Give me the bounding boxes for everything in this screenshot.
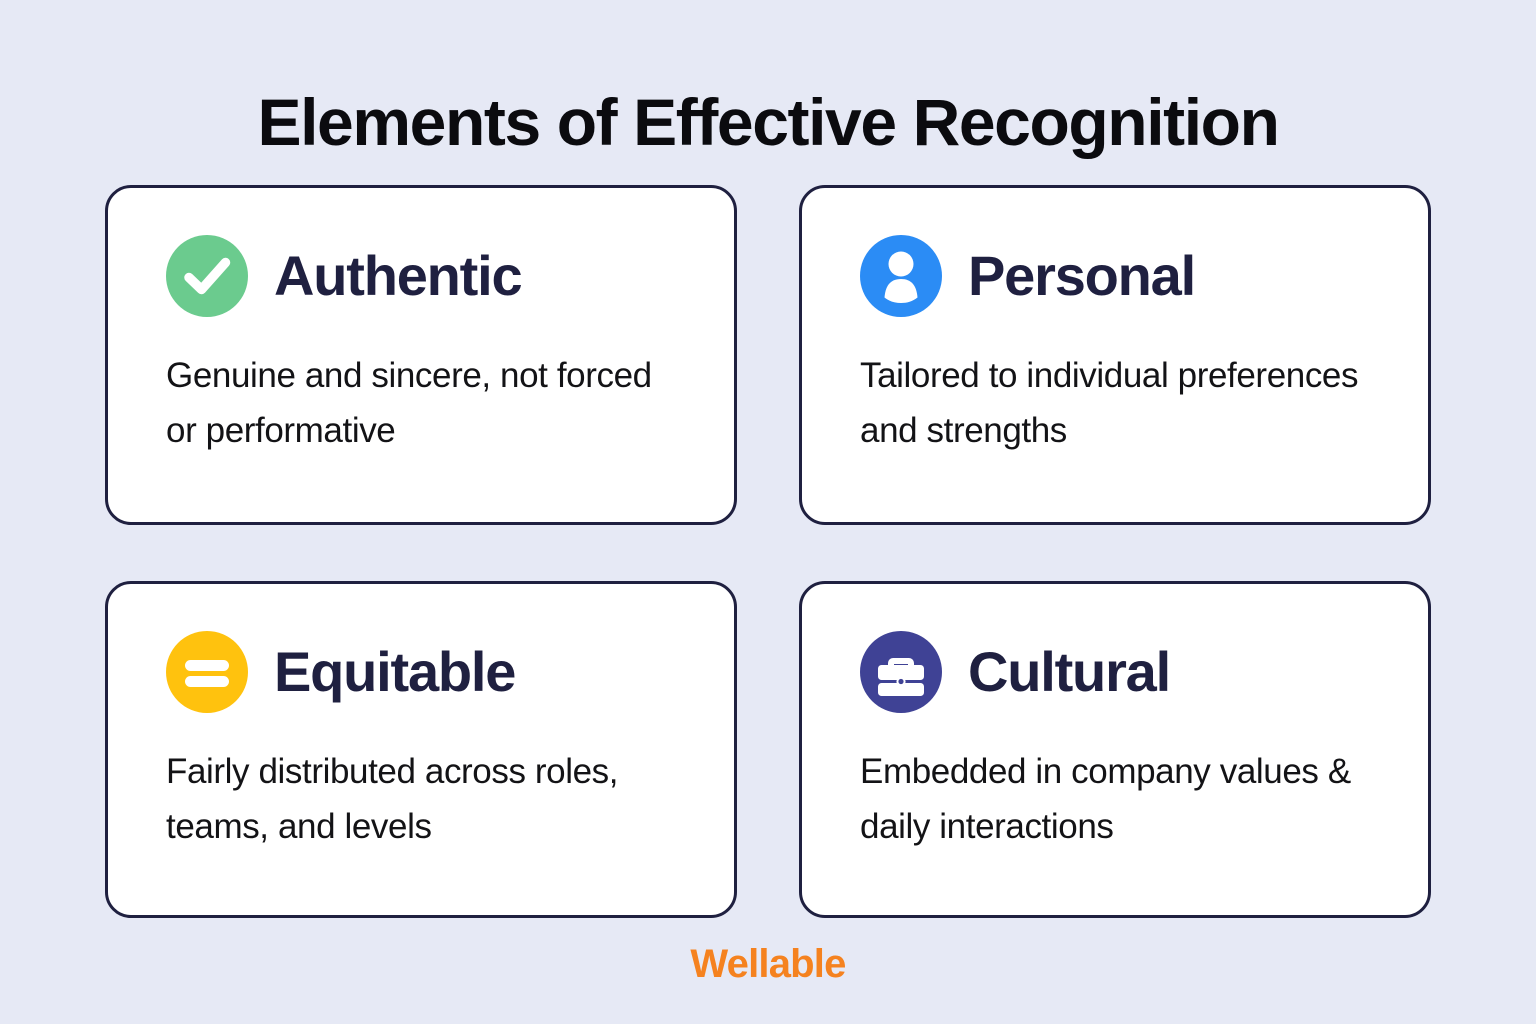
- infographic-canvas: Elements of Effective Recognition Authen…: [0, 0, 1536, 1024]
- card-description: Tailored to individual preferences and s…: [860, 348, 1380, 458]
- card-personal: Personal Tailored to individual preferen…: [799, 185, 1431, 525]
- card-title: Equitable: [274, 642, 515, 702]
- card-header: Authentic: [166, 230, 688, 322]
- equals-icon: [166, 631, 248, 713]
- page-title: Elements of Effective Recognition: [0, 82, 1536, 162]
- card-equitable: Equitable Fairly distributed across role…: [105, 581, 737, 918]
- card-title: Personal: [968, 246, 1195, 306]
- card-description: Genuine and sincere, not forced or perfo…: [166, 348, 686, 458]
- card-title: Authentic: [274, 246, 521, 306]
- wellable-logo: Wellable: [0, 940, 1536, 988]
- card-title: Cultural: [968, 642, 1170, 702]
- check-circle-icon: [166, 235, 248, 317]
- elements-grid: Authentic Genuine and sincere, not force…: [105, 185, 1431, 918]
- card-description: Fairly distributed across roles, teams, …: [166, 744, 686, 854]
- briefcase-icon: [860, 631, 942, 713]
- card-cultural: Cultural Embedded in company values & da…: [799, 581, 1431, 918]
- person-icon: [860, 235, 942, 317]
- card-authentic: Authentic Genuine and sincere, not force…: [105, 185, 737, 525]
- card-header: Personal: [860, 230, 1382, 322]
- card-header: Cultural: [860, 626, 1382, 718]
- card-description: Embedded in company values & daily inter…: [860, 744, 1380, 854]
- card-header: Equitable: [166, 626, 688, 718]
